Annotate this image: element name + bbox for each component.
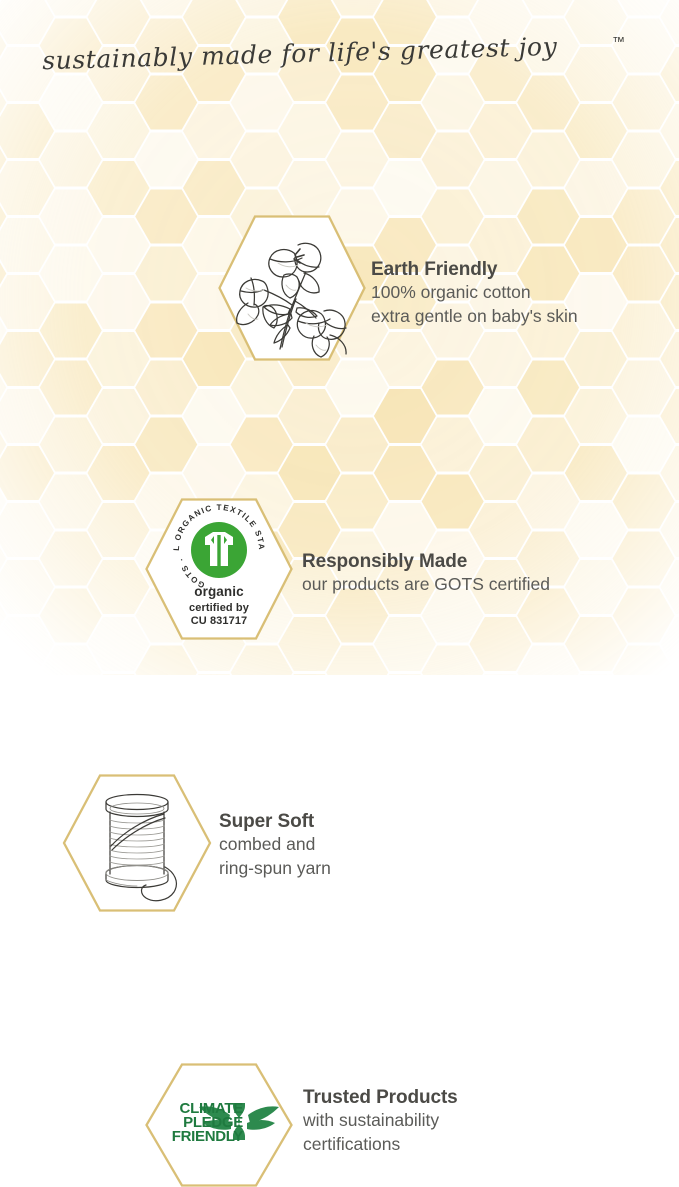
feature-text-super-soft: Super Soft combed and ring-spun yarn	[219, 810, 331, 880]
badge-thread-spool	[62, 774, 212, 912]
feature-trusted-products: CLIMATE PLEDGE FRIENDLY Trusted Products…	[0, 530, 679, 665]
feature-title: Trusted Products	[303, 1086, 458, 1109]
badge-climate-pledge-friendly: CLIMATE PLEDGE FRIENDLY	[145, 1063, 293, 1187]
feature-line-1: with sustainability	[303, 1109, 458, 1132]
feature-line-2: certifications	[303, 1133, 458, 1156]
feature-earth-friendly: Earth Friendly 100% organic cotton extra…	[0, 105, 679, 260]
climate-pledge-word-2: PLEDGE	[157, 1115, 243, 1130]
trademark-symbol: ™	[612, 34, 625, 49]
feature-responsibly-made: GLOBAL ORGANIC TEXTILE STANDARD · GOTS ·…	[0, 248, 679, 393]
feature-text-trusted-products: Trusted Products with sustainability cer…	[303, 1086, 458, 1156]
page-title: sustainably made for life's greatest joy	[42, 32, 558, 75]
hexagon-frame	[64, 776, 210, 911]
headline-banner: sustainably made for life's greatest joy…	[0, 22, 679, 84]
climate-pledge-word-1: CLIMATE	[157, 1101, 243, 1116]
feature-line-2: ring-spun yarn	[219, 857, 331, 880]
feature-super-soft: Super Soft combed and ring-spun yarn	[0, 386, 679, 526]
climate-pledge-word-3: FRIENDLY	[157, 1129, 243, 1144]
feature-line-1: combed and	[219, 833, 331, 856]
feature-title: Super Soft	[219, 810, 331, 833]
